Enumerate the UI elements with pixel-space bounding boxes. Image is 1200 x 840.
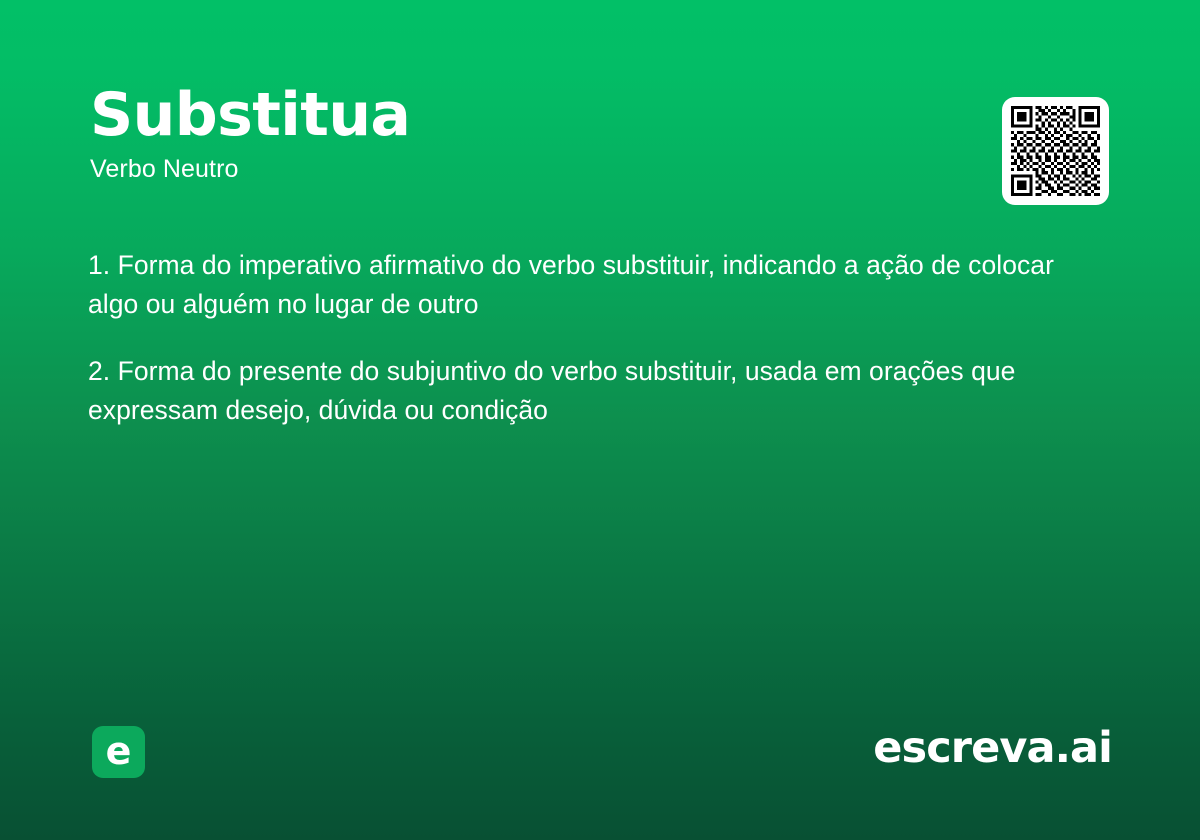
list-item: 2. Forma do presente do subjuntivo do ve…: [88, 352, 1100, 430]
list-item: 1. Forma do imperativo afirmativo do ver…: [88, 246, 1100, 324]
definition-list: 1. Forma do imperativo afirmativo do ver…: [88, 246, 1100, 430]
brand-logo: e: [92, 726, 145, 778]
brand-logo-letter: e: [106, 732, 132, 770]
word-definition-card: Substitua Verbo Neutro 1. Forma do imper…: [0, 0, 1200, 840]
qr-code-panel[interactable]: [1002, 97, 1109, 205]
page-title: Substitua: [90, 84, 970, 146]
brand-wordmark: escreva.ai: [873, 722, 1112, 774]
card-header: Substitua Verbo Neutro: [90, 84, 970, 184]
qr-code-icon[interactable]: [1011, 106, 1100, 196]
word-class-label: Verbo Neutro: [90, 154, 970, 184]
